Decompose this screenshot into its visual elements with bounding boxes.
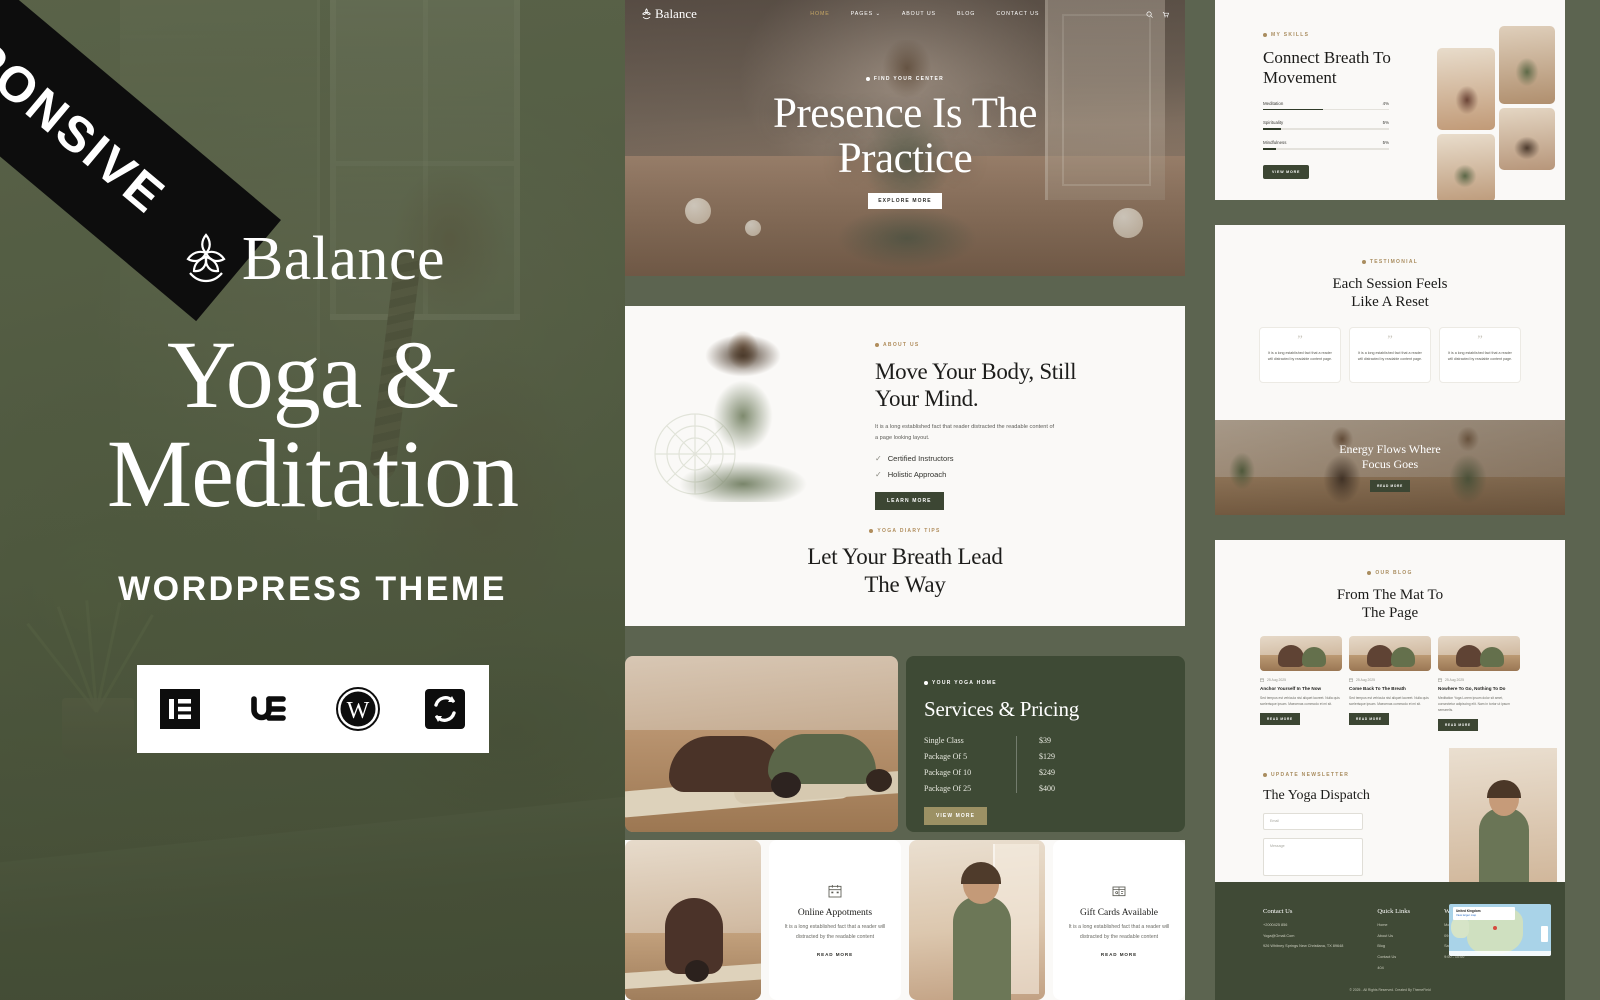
feature-card-title: Gift Cards Available: [1080, 908, 1158, 918]
footer-copyright: © 2025 - All Rights Reserved. Created By…: [1215, 988, 1565, 992]
blog-title-line1: From The Mat To: [1337, 587, 1443, 603]
breath-title-line1: Let Your Breath Lead: [807, 544, 1002, 569]
screenshot-stage: RESPONSIVE Balance Yoga &: [0, 0, 1600, 1000]
feature-card-body: It is a long established fact that a rea…: [783, 923, 887, 943]
testimonial-quote: It is a long established fact that a rea…: [1267, 350, 1333, 363]
pricing-values-column: $39 $129 $249 $400: [1016, 736, 1055, 793]
energy-banner-title: Energy Flows Where Focus Goes: [1215, 442, 1565, 472]
skill-item-mindfulness: Mindfulness 5%: [1263, 140, 1389, 150]
gift-card-icon: [1111, 883, 1127, 899]
footer-map[interactable]: United Kingdom View larger map: [1449, 904, 1551, 956]
pricing-row-price: $249: [1039, 768, 1055, 777]
testimonials-title-line2: Like A Reset: [1351, 294, 1429, 310]
testimonials-eyebrow: TESTIMONIAL: [1362, 259, 1418, 265]
gallery-thumb-1: [1437, 48, 1495, 130]
feature-cards-row: Online Appotments It is a long establish…: [625, 840, 1185, 1000]
site-footer: Contact Us +2000425 856 Yoga@Gmail.Com 9…: [1215, 882, 1565, 1000]
pricing-row-name: Single Class: [924, 736, 1016, 745]
blog-date: 25 Aug 2025: [1438, 678, 1520, 682]
about-feature-label: Certified Instructors: [888, 454, 954, 463]
footer-heading: Quick Links: [1377, 908, 1410, 915]
nav-item-home[interactable]: HOME: [810, 11, 830, 17]
about-eyebrow: ABOUT US: [875, 342, 920, 348]
pricing-row-price: $129: [1039, 752, 1055, 761]
check-icon: ✓: [875, 454, 882, 463]
hero-tools: [1146, 11, 1169, 18]
testimonial-card: ” It is a long established fact that a r…: [1439, 327, 1521, 383]
panel-gap: [1215, 515, 1565, 540]
blog-date-text: 25 Aug 2025: [1445, 678, 1464, 682]
skill-track: [1263, 128, 1389, 130]
promo-title-line1: Yoga &: [167, 321, 458, 428]
footer-link[interactable]: Home: [1377, 923, 1410, 929]
blog-title: From The Mat To The Page: [1215, 586, 1565, 622]
nav-item-about-us[interactable]: ABOUT US: [902, 11, 936, 17]
feature-photo-left: [625, 840, 761, 1000]
blog-panel: OUR BLOG From The Mat To The Page 25 Aug…: [1215, 540, 1565, 1000]
nav-item-pages-label: PAGES: [851, 11, 873, 17]
skills-list: Meditation 4% Spirituality 5%: [1263, 101, 1389, 150]
wordpress-icon: W: [334, 685, 382, 733]
blog-post-excerpt: Meditation Yoga Lorem ipsum dolor sit am…: [1438, 695, 1520, 713]
pricing-eyebrow: YOUR YOGA HOME: [924, 680, 997, 686]
footer-link[interactable]: Blog: [1377, 944, 1410, 950]
about-eyebrow-text: ABOUT US: [883, 342, 920, 348]
blog-post-cta[interactable]: READ MORE: [1349, 713, 1389, 725]
hero-content: FIND YOUR CENTER Presence Is The Practic…: [625, 68, 1185, 209]
blog-post-title: Come Back To The Breath: [1349, 686, 1431, 691]
breath-title: Let Your Breath Lead The Way: [625, 543, 1185, 599]
calendar-icon: [827, 883, 843, 899]
hero-title-line1: Presence Is The: [773, 90, 1037, 137]
blog-thumbnail: [1349, 636, 1431, 671]
eyebrow-dot-icon: [924, 681, 928, 685]
pricing-row-price: $400: [1039, 784, 1055, 793]
hero-menu: HOME PAGES ⌄ ABOUT US BLOG CONTACT US: [750, 11, 1039, 17]
hero-title: Presence Is The Practice: [625, 92, 1185, 181]
eyebrow-dot-icon: [1367, 571, 1371, 575]
testimonial-card: ” It is a long established fact that a r…: [1259, 327, 1341, 383]
eyebrow-dot-icon: [1263, 33, 1267, 37]
eyebrow-dot-icon: [1362, 260, 1366, 264]
blog-title-line2: The Page: [1362, 605, 1418, 621]
breath-eyebrow-text: YOGA DIARY TIPS: [877, 528, 940, 534]
footer-link[interactable]: 404: [1377, 966, 1410, 972]
elementor-icon: [156, 685, 204, 733]
skill-track: [1263, 109, 1389, 111]
skills-panel: MY SKILLS Connect Breath To Movement Med…: [1215, 0, 1565, 200]
testimonials-title: Each Session Feels Like A Reset: [1215, 275, 1565, 311]
blog-post-excerpt: Sed tempus est vehicula nisl aliquet lao…: [1349, 695, 1431, 707]
calendar-icon: [1438, 678, 1442, 682]
hero-navbar: Balance HOME PAGES ⌄ ABOUT US BLOG CONTA…: [625, 0, 1185, 28]
hero-eyebrow-text: FIND YOUR CENTER: [874, 76, 944, 82]
about-feature-item: ✓ Certified Instructors: [875, 454, 1165, 463]
cart-icon[interactable]: [1162, 11, 1169, 18]
pricing-eyebrow-text: YOUR YOGA HOME: [932, 680, 997, 686]
pricing-cta-button[interactable]: VIEW MORE: [924, 807, 987, 825]
nav-item-blog[interactable]: BLOG: [957, 11, 975, 17]
feature-card-appointments: Online Appotments It is a long establish…: [769, 840, 901, 1000]
skills-eyebrow: MY SKILLS: [1263, 32, 1309, 38]
pricing-row-name: Package Of 25: [924, 784, 1016, 793]
skill-value: 4%: [1383, 101, 1389, 106]
about-title-line1: Move Your Body, Still: [875, 359, 1076, 384]
newsletter-eyebrow-text: UPDATE NEWSLETTER: [1271, 772, 1349, 778]
promo-title: Yoga & Meditation: [107, 326, 518, 524]
blog-post-card[interactable]: 25 Aug 2025 Nowhere To Go, Nothing To Do…: [1438, 636, 1520, 731]
promo-title-line2: Meditation: [107, 420, 518, 527]
quote-icon: ”: [1477, 335, 1482, 345]
gallery-thumb-4: [1437, 134, 1495, 200]
about-feature-list: ✓ Certified Instructors ✓ Holistic Appro…: [875, 454, 1165, 479]
svg-text:W: W: [347, 698, 370, 724]
gallery-thumb-2: [1499, 26, 1555, 104]
skill-item-meditation: Meditation 4%: [1263, 101, 1389, 111]
about-title-line2: Your Mind.: [875, 386, 978, 411]
about-feature-label: Holistic Approach: [888, 470, 947, 479]
right-preview-column: MY SKILLS Connect Breath To Movement Med…: [1215, 0, 1600, 1000]
skill-track: [1263, 148, 1389, 150]
pricing-title: Services & Pricing: [924, 697, 1167, 722]
footer-link[interactable]: Yoga@Gmail.Com: [1263, 934, 1343, 940]
footer-link[interactable]: +2000425 856: [1263, 923, 1343, 929]
feature-card-gift-cards: Gift Cards Available It is a long establ…: [1053, 840, 1185, 1000]
testimonials-panel: TESTIMONIAL Each Session Feels Like A Re…: [1215, 225, 1565, 515]
panel-gap: [1215, 200, 1565, 225]
skill-value: 5%: [1383, 120, 1389, 125]
hero-title-line2: Practice: [838, 135, 972, 182]
skills-title-line1: Connect Breath To: [1263, 48, 1391, 67]
energy-banner-cta[interactable]: READ MORE: [1370, 480, 1410, 492]
testimonials-eyebrow-text: TESTIMONIAL: [1370, 259, 1418, 265]
energy-banner-line2: Focus Goes: [1362, 457, 1418, 471]
blog-post-cta[interactable]: READ MORE: [1438, 719, 1478, 731]
hero-cta-button[interactable]: EXPLORE MORE: [868, 193, 941, 209]
newsletter-photo: [1449, 748, 1557, 904]
lotus-icon: [180, 231, 232, 287]
wpbakery-icon: [243, 685, 295, 733]
nav-item-contact-us[interactable]: CONTACT US: [996, 11, 1039, 17]
pricing-row-name: Package Of 10: [924, 768, 1016, 777]
one-click-import-icon: [421, 685, 469, 733]
blog-eyebrow-text: OUR BLOG: [1375, 570, 1412, 576]
breath-section: YOGA DIARY TIPS Let Your Breath Lead The…: [625, 512, 1185, 599]
eyebrow-dot-icon: [869, 529, 873, 533]
blog-post-excerpt: Sed tempus est vehicula nisl aliquet lao…: [1260, 695, 1342, 707]
blog-post-title: Anchor Yourself In The Now: [1260, 686, 1342, 691]
blog-post-card[interactable]: 25 Aug 2025 Anchor Yourself In The Now S…: [1260, 636, 1342, 731]
breath-title-line2: The Way: [864, 572, 945, 597]
about-title: Move Your Body, Still Your Mind.: [875, 359, 1165, 412]
check-icon: ✓: [875, 470, 882, 479]
skills-eyebrow-text: MY SKILLS: [1271, 32, 1309, 38]
technology-badge-bar: W: [137, 665, 489, 753]
blog-post-cta[interactable]: READ MORE: [1260, 713, 1300, 725]
nav-item-pages[interactable]: PAGES ⌄: [851, 11, 881, 17]
skill-label: Mindfulness: [1263, 140, 1286, 145]
hero-logo-text: Balance: [655, 6, 697, 22]
about-body: It is a long established fact that reade…: [875, 422, 1057, 443]
skill-label: Meditation: [1263, 101, 1283, 106]
hero-logo[interactable]: Balance: [641, 6, 697, 22]
pricing-row-name: Package Of 5: [924, 752, 1016, 761]
blog-date: 25 Aug 2025: [1260, 678, 1342, 682]
hero-section: Balance HOME PAGES ⌄ ABOUT US BLOG CONTA…: [625, 0, 1185, 276]
eyebrow-dot-icon: [866, 77, 870, 81]
map-attribution: [1449, 951, 1551, 956]
services-photo: [625, 656, 898, 832]
about-feature-item: ✓ Holistic Approach: [875, 470, 1165, 479]
skills-gallery: [1437, 26, 1555, 176]
pricing-names-column: Single Class Package Of 5 Package Of 10 …: [924, 736, 1016, 793]
skill-label: Spirituality: [1263, 120, 1283, 125]
footer-link[interactable]: About Us: [1377, 934, 1410, 940]
services-section: YOUR YOGA HOME Services & Pricing Single…: [625, 656, 1185, 832]
newsletter-eyebrow: UPDATE NEWSLETTER: [1263, 772, 1349, 778]
eyebrow-dot-icon: [1263, 773, 1267, 777]
blog-date-text: 25 Aug 2025: [1267, 678, 1286, 682]
footer-heading: Contact Us: [1263, 908, 1343, 915]
blog-thumbnail: [1438, 636, 1520, 671]
gallery-thumb-3: [1499, 108, 1555, 170]
skill-item-spirituality: Spirituality 5%: [1263, 120, 1389, 130]
blog-post-title: Nowhere To Go, Nothing To Do: [1438, 686, 1520, 691]
feature-photo-center: [909, 840, 1045, 1000]
blog-eyebrow: OUR BLOG: [1367, 570, 1412, 576]
blog-post-card[interactable]: 25 Aug 2025 Come Back To The Breath Sed …: [1349, 636, 1431, 731]
testimonials-title-line1: Each Session Feels: [1333, 276, 1448, 292]
feature-card-link[interactable]: READ MORE: [1101, 952, 1137, 957]
search-icon[interactable]: [1146, 11, 1153, 18]
testimonial-quote: It is a long established fact that a rea…: [1447, 350, 1513, 363]
hero-eyebrow: FIND YOUR CENTER: [866, 76, 944, 82]
skill-value: 5%: [1383, 140, 1389, 145]
skills-cta-button[interactable]: VIEW MORE: [1263, 165, 1309, 179]
energy-banner-line1: Energy Flows Where: [1339, 442, 1441, 456]
blog-thumbnail: [1260, 636, 1342, 671]
footer-column-contact: Contact Us +2000425 856 Yoga@Gmail.Com 9…: [1263, 908, 1343, 971]
promo-brand: Balance: [180, 228, 445, 290]
promo-panel: RESPONSIVE Balance Yoga &: [0, 0, 625, 1000]
lotus-icon: [641, 8, 652, 20]
energy-banner: Energy Flows Where Focus Goes READ MORE: [1215, 420, 1565, 515]
promo-brand-name: Balance: [242, 228, 445, 290]
map-link[interactable]: View larger map: [1456, 913, 1512, 917]
email-field[interactable]: Email: [1263, 813, 1363, 830]
calendar-icon: [1349, 678, 1353, 682]
about-cta-button[interactable]: LEARN MORE: [875, 492, 944, 510]
blog-date: 25 Aug 2025: [1349, 678, 1431, 682]
newsletter-section: UPDATE NEWSLETTER The Yoga Dispatch Emai…: [1215, 756, 1565, 896]
footer-column-quick-links: Quick Links Home About Us Blog Contact U…: [1377, 908, 1410, 971]
calendar-icon: [1260, 678, 1264, 682]
map-zoom-controls[interactable]: [1541, 926, 1548, 942]
feature-card-body: It is a long established fact that a rea…: [1067, 923, 1171, 943]
quote-icon: ”: [1387, 335, 1392, 345]
testimonial-card-list: ” It is a long established fact that a r…: [1215, 327, 1565, 383]
about-text: ABOUT US Move Your Body, Still Your Mind…: [875, 306, 1185, 512]
testimonial-card: ” It is a long established fact that a r…: [1349, 327, 1431, 383]
feature-card-title: Online Appotments: [798, 908, 872, 918]
blog-date-text: 25 Aug 2025: [1356, 678, 1375, 682]
about-image: [625, 306, 875, 512]
energy-banner-content: Energy Flows Where Focus Goes READ MORE: [1215, 442, 1565, 492]
footer-address: 926 Whitney Springs New Christiana, TX 8…: [1263, 944, 1343, 950]
breath-eyebrow: YOGA DIARY TIPS: [869, 528, 940, 534]
center-preview-column: Balance HOME PAGES ⌄ ABOUT US BLOG CONTA…: [625, 0, 1190, 1000]
map-info-card: United Kingdom View larger map: [1453, 907, 1515, 920]
footer-link[interactable]: Contact Us: [1377, 955, 1410, 961]
pricing-card: YOUR YOGA HOME Services & Pricing Single…: [906, 656, 1185, 832]
blog-post-list: 25 Aug 2025 Anchor Yourself In The Now S…: [1215, 636, 1565, 731]
about-panel: ABOUT US Move Your Body, Still Your Mind…: [625, 306, 1185, 626]
pricing-table: Single Class Package Of 5 Package Of 10 …: [924, 736, 1167, 793]
quote-icon: ”: [1297, 335, 1302, 345]
about-photo-figure: [651, 324, 841, 502]
skills-title-line2: Movement: [1263, 68, 1337, 87]
promo-subtitle: WORDPRESS THEME: [118, 570, 507, 609]
message-field[interactable]: Message: [1263, 838, 1363, 876]
testimonial-quote: It is a long established fact that a rea…: [1357, 350, 1423, 363]
pricing-row-price: $39: [1039, 736, 1055, 745]
eyebrow-dot-icon: [875, 343, 879, 347]
feature-card-link[interactable]: READ MORE: [817, 952, 853, 957]
